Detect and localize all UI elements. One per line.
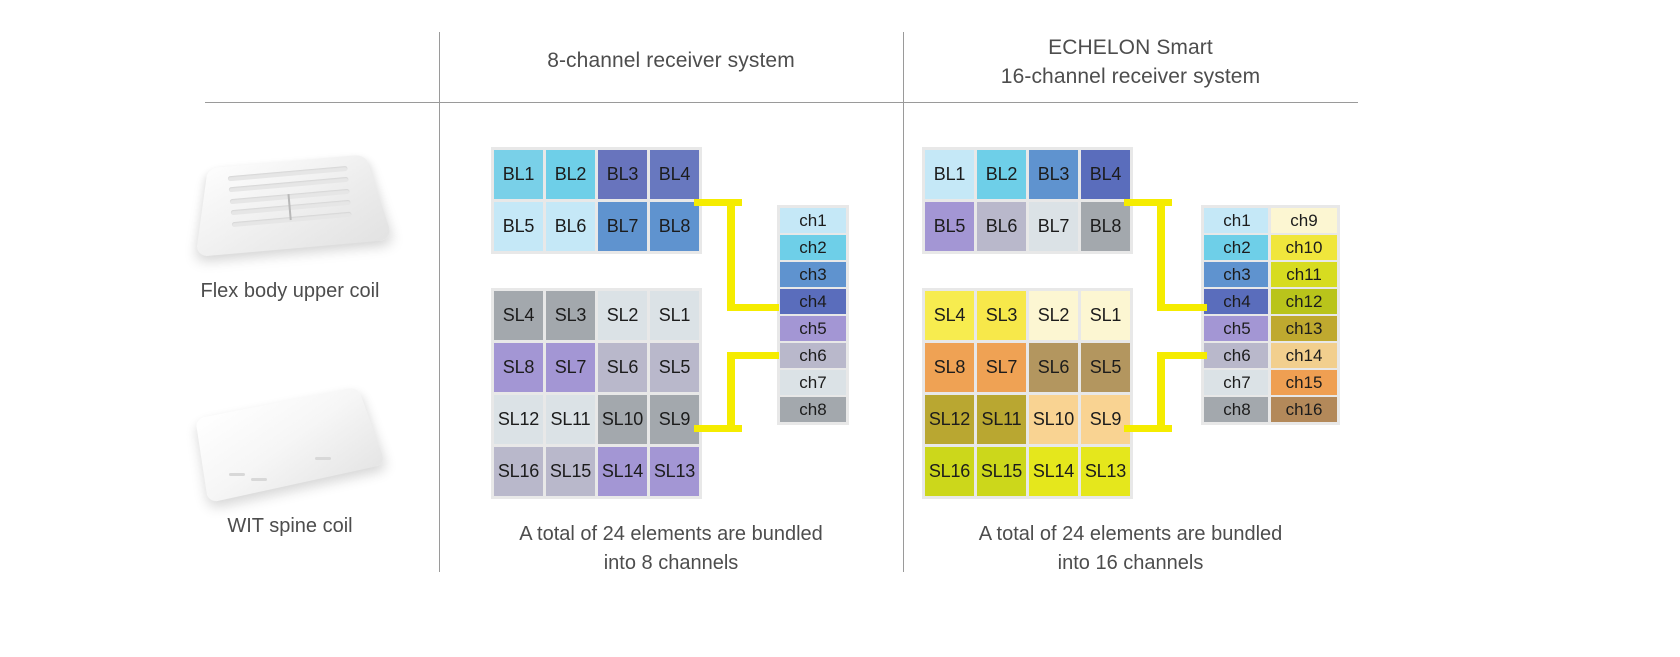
element-bl2: BL2 — [977, 150, 1026, 199]
cell-label: BL6 — [555, 216, 586, 237]
sixteen-channel-note-line1: A total of 24 elements are bundled — [903, 520, 1358, 549]
cell-label: ch9 — [1290, 211, 1317, 231]
element-bl6: BL6 — [546, 202, 595, 251]
cell-label: ch6 — [1223, 346, 1250, 366]
cell-label: SL8 — [934, 357, 965, 378]
element-sl13: SL13 — [650, 447, 699, 496]
cell-label: ch15 — [1286, 373, 1323, 393]
element-sl12: SL12 — [494, 395, 543, 444]
sixteen-channel-note-line2: into 16 channels — [903, 549, 1358, 578]
divider-horizontal-left — [205, 102, 439, 103]
element-bl2: BL2 — [546, 150, 595, 199]
cell-label: BL3 — [607, 164, 638, 185]
element-bl1: BL1 — [494, 150, 543, 199]
divider-vertical-left — [439, 32, 440, 572]
cell-label: BL5 — [934, 216, 965, 237]
element-sl15: SL15 — [546, 447, 595, 496]
sixteen-channel-output-list-a: ch1ch2ch3ch4ch5ch6ch7ch8 — [1201, 205, 1273, 425]
cell-label: SL1 — [1090, 305, 1121, 326]
eight-channel-bl-grid: BL1BL2BL3BL4BL5BL6BL7BL8 — [491, 147, 702, 254]
element-sl6: SL6 — [1029, 343, 1078, 392]
element-sl3: SL3 — [546, 291, 595, 340]
eight-channel-output-list: ch1ch2ch3ch4ch5ch6ch7ch8 — [777, 205, 849, 425]
sixteen-channel-bl-grid: BL1BL2BL3BL4BL5BL6BL7BL8 — [922, 147, 1133, 254]
cell-label: BL8 — [1090, 216, 1121, 237]
cell-label: ch6 — [799, 346, 826, 366]
cell-label: BL2 — [986, 164, 1017, 185]
sixteen-channel-output-list-b: ch9ch10ch11ch12ch13ch14ch15ch16 — [1268, 205, 1340, 425]
channel-ch3: ch3 — [1204, 262, 1270, 287]
cell-label: ch4 — [1223, 292, 1250, 312]
element-bl3: BL3 — [598, 150, 647, 199]
channel-ch14: ch14 — [1271, 343, 1337, 368]
element-bl4: BL4 — [650, 150, 699, 199]
element-sl4: SL4 — [494, 291, 543, 340]
element-sl10: SL10 — [1029, 395, 1078, 444]
channel-ch1: ch1 — [1204, 208, 1270, 233]
cell-label: ch14 — [1286, 346, 1323, 366]
channel-ch3: ch3 — [780, 262, 846, 287]
cell-label: SL8 — [503, 357, 534, 378]
element-sl2: SL2 — [1029, 291, 1078, 340]
channel-ch9: ch9 — [1271, 208, 1337, 233]
element-bl8: BL8 — [650, 202, 699, 251]
cell-label: SL11 — [551, 409, 591, 430]
element-sl8: SL8 — [925, 343, 974, 392]
wit-spine-coil-image — [185, 385, 395, 505]
element-bl7: BL7 — [1029, 202, 1078, 251]
connector-r-bl-vertical — [1157, 199, 1165, 311]
cell-label: ch13 — [1286, 319, 1323, 339]
channel-ch8: ch8 — [1204, 397, 1270, 422]
cell-label: ch4 — [799, 292, 826, 312]
cell-label: SL6 — [1038, 357, 1069, 378]
cell-label: SL13 — [654, 461, 695, 482]
flex-body-upper-coil-image — [190, 148, 390, 252]
element-bl7: BL7 — [598, 202, 647, 251]
element-sl2: SL2 — [598, 291, 647, 340]
cell-label: SL9 — [659, 409, 690, 430]
cell-label: ch1 — [1223, 211, 1250, 231]
cell-label: SL15 — [981, 461, 1022, 482]
element-sl11: SL11 — [977, 395, 1026, 444]
cell-label: BL3 — [1038, 164, 1069, 185]
cell-label: SL1 — [659, 305, 690, 326]
element-sl8: SL8 — [494, 343, 543, 392]
element-sl1: SL1 — [650, 291, 699, 340]
divider-horizontal-right — [903, 102, 1358, 103]
eight-channel-note-line1: A total of 24 elements are bundled — [439, 520, 903, 549]
element-sl4: SL4 — [925, 291, 974, 340]
cell-label: ch3 — [799, 265, 826, 285]
channel-ch5: ch5 — [1204, 316, 1270, 341]
element-sl13: SL13 — [1081, 447, 1130, 496]
channel-ch15: ch15 — [1271, 370, 1337, 395]
header-sixteen-channel: ECHELON Smart 16-channel receiver system — [903, 33, 1358, 91]
cell-label: SL3 — [555, 305, 586, 326]
cell-label: ch8 — [799, 400, 826, 420]
element-bl4: BL4 — [1081, 150, 1130, 199]
channel-ch7: ch7 — [780, 370, 846, 395]
cell-label: SL12 — [929, 409, 970, 430]
sixteen-channel-sl-grid: SL4SL3SL2SL1SL8SL7SL6SL5SL12SL11SL10SL9S… — [922, 288, 1133, 499]
element-sl11: SL11 — [546, 395, 595, 444]
cell-label: SL7 — [986, 357, 1017, 378]
channel-ch4: ch4 — [1204, 289, 1270, 314]
channel-ch2: ch2 — [780, 235, 846, 260]
element-sl5: SL5 — [650, 343, 699, 392]
header-right-line1: ECHELON Smart — [903, 33, 1358, 62]
header-right-line2: 16-channel receiver system — [903, 62, 1358, 91]
element-sl9: SL9 — [650, 395, 699, 444]
cell-label: SL10 — [602, 409, 643, 430]
product-wit-spine-coil: WIT spine coil — [185, 385, 395, 538]
channel-ch8: ch8 — [780, 397, 846, 422]
cell-label: SL2 — [607, 305, 638, 326]
cell-label: SL11 — [982, 409, 1022, 430]
element-sl16: SL16 — [494, 447, 543, 496]
cell-label: ch11 — [1286, 265, 1322, 285]
element-sl3: SL3 — [977, 291, 1026, 340]
cell-label: ch7 — [1223, 373, 1250, 393]
channel-ch2: ch2 — [1204, 235, 1270, 260]
cell-label: SL5 — [1090, 357, 1121, 378]
channel-ch16: ch16 — [1271, 397, 1337, 422]
eight-channel-note-line2: into 8 channels — [439, 549, 903, 578]
divider-horizontal-mid — [439, 102, 903, 103]
cell-label: ch2 — [799, 238, 826, 258]
channel-ch7: ch7 — [1204, 370, 1270, 395]
cell-label: SL9 — [1090, 409, 1121, 430]
product-flex-body-upper-coil: Flex body upper coil — [190, 148, 390, 303]
cell-label: SL14 — [602, 461, 643, 482]
element-sl9: SL9 — [1081, 395, 1130, 444]
cell-label: SL2 — [1038, 305, 1069, 326]
element-sl7: SL7 — [977, 343, 1026, 392]
channel-ch6: ch6 — [780, 343, 846, 368]
element-sl16: SL16 — [925, 447, 974, 496]
cell-label: BL4 — [659, 164, 690, 185]
connector-sl-top-horizontal — [727, 352, 779, 359]
cell-label: SL16 — [498, 461, 539, 482]
product-caption-flex: Flex body upper coil — [190, 280, 390, 303]
element-sl1: SL1 — [1081, 291, 1130, 340]
eight-channel-note: A total of 24 elements are bundled into … — [439, 520, 903, 578]
connector-r-sl-top-horizontal — [1157, 352, 1207, 359]
element-sl15: SL15 — [977, 447, 1026, 496]
cell-label: SL5 — [659, 357, 690, 378]
element-sl7: SL7 — [546, 343, 595, 392]
element-bl5: BL5 — [494, 202, 543, 251]
element-sl5: SL5 — [1081, 343, 1130, 392]
element-bl1: BL1 — [925, 150, 974, 199]
cell-label: BL1 — [934, 164, 965, 185]
channel-ch4: ch4 — [780, 289, 846, 314]
channel-ch12: ch12 — [1271, 289, 1337, 314]
channel-ch13: ch13 — [1271, 316, 1337, 341]
cell-label: SL3 — [986, 305, 1017, 326]
cell-label: SL13 — [1085, 461, 1126, 482]
cell-label: ch7 — [799, 373, 826, 393]
channel-ch11: ch11 — [1271, 262, 1337, 287]
cell-label: SL12 — [498, 409, 539, 430]
element-bl8: BL8 — [1081, 202, 1130, 251]
cell-label: ch8 — [1223, 400, 1250, 420]
cell-label: ch2 — [1223, 238, 1250, 258]
element-sl14: SL14 — [1029, 447, 1078, 496]
element-bl3: BL3 — [1029, 150, 1078, 199]
cell-label: BL2 — [555, 164, 586, 185]
cell-label: BL8 — [659, 216, 690, 237]
cell-label: ch1 — [799, 211, 826, 231]
cell-label: BL5 — [503, 216, 534, 237]
cell-label: ch3 — [1223, 265, 1250, 285]
channel-ch6: ch6 — [1204, 343, 1270, 368]
cell-label: ch16 — [1286, 400, 1323, 420]
cell-label: ch5 — [799, 319, 826, 339]
connector-bl-bottom-horizontal — [727, 304, 779, 311]
cell-label: BL1 — [503, 164, 534, 185]
cell-label: BL7 — [607, 216, 638, 237]
cell-label: ch5 — [1223, 319, 1250, 339]
cell-label: SL15 — [550, 461, 591, 482]
cell-label: BL4 — [1090, 164, 1121, 185]
cell-label: SL16 — [929, 461, 970, 482]
cell-label: BL6 — [986, 216, 1017, 237]
element-bl6: BL6 — [977, 202, 1026, 251]
element-bl5: BL5 — [925, 202, 974, 251]
cell-label: SL4 — [934, 305, 965, 326]
connector-r-sl-vertical — [1157, 352, 1165, 432]
channel-ch10: ch10 — [1271, 235, 1337, 260]
element-sl6: SL6 — [598, 343, 647, 392]
cell-label: BL7 — [1038, 216, 1069, 237]
header-eight-channel: 8-channel receiver system — [439, 46, 903, 75]
cell-label: SL6 — [607, 357, 638, 378]
cell-label: SL4 — [503, 305, 534, 326]
eight-channel-sl-grid: SL4SL3SL2SL1SL8SL7SL6SL5SL12SL11SL10SL9S… — [491, 288, 702, 499]
element-sl14: SL14 — [598, 447, 647, 496]
cell-label: SL14 — [1033, 461, 1074, 482]
connector-bl-vertical — [727, 199, 735, 311]
element-sl12: SL12 — [925, 395, 974, 444]
cell-label: ch12 — [1286, 292, 1323, 312]
cell-label: SL10 — [1033, 409, 1074, 430]
cell-label: SL7 — [555, 357, 586, 378]
product-caption-spine: WIT spine coil — [185, 515, 395, 538]
channel-ch1: ch1 — [780, 208, 846, 233]
diagram-root: 8-channel receiver system ECHELON Smart … — [0, 0, 1680, 657]
connector-r-bl-bottom-horizontal — [1157, 304, 1207, 311]
cell-label: ch10 — [1286, 238, 1323, 258]
sixteen-channel-note: A total of 24 elements are bundled into … — [903, 520, 1358, 578]
connector-sl-vertical — [727, 352, 735, 432]
element-sl10: SL10 — [598, 395, 647, 444]
channel-ch5: ch5 — [780, 316, 846, 341]
divider-vertical-right — [903, 32, 904, 572]
